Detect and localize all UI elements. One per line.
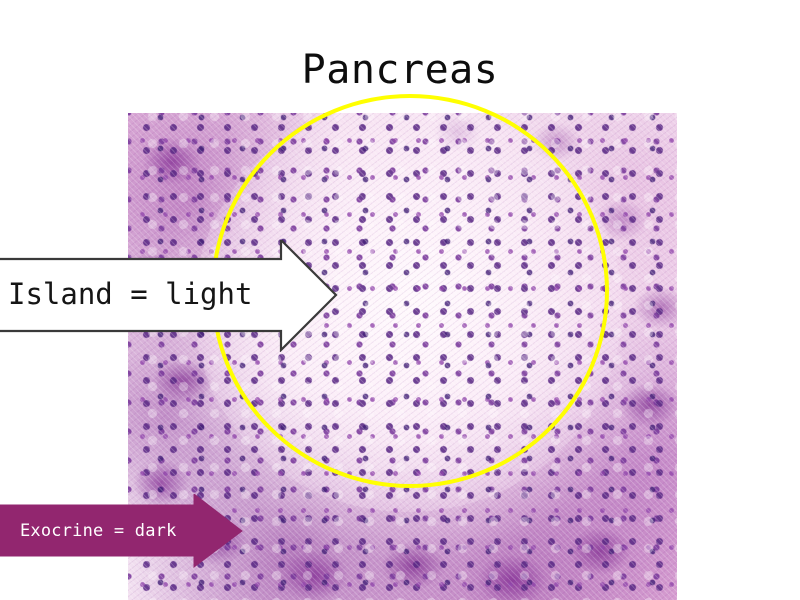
callout-island-light[interactable]: Island = light (0, 240, 338, 352)
callout-island-light-label: Island = light (8, 277, 252, 311)
page-title: Pancreas (0, 48, 800, 92)
slide-canvas: Pancreas Island = light Exocrine = dark (0, 0, 800, 600)
callout-exocrine-dark[interactable]: Exocrine = dark (0, 494, 244, 568)
callout-exocrine-dark-label: Exocrine = dark (20, 521, 177, 541)
